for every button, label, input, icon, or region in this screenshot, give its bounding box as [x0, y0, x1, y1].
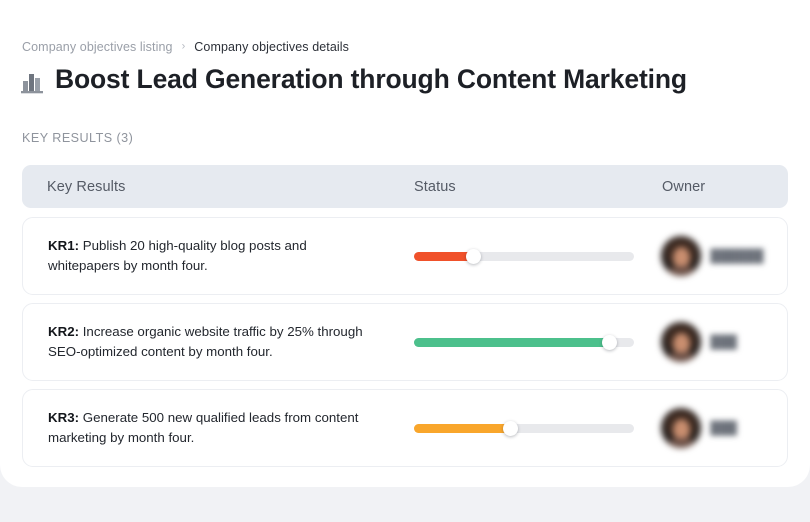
breadcrumb: Company objectives listing › Company obj…: [22, 38, 349, 56]
key-result-text: Publish 20 high-quality blog posts and w…: [48, 238, 307, 274]
key-result-text: Increase organic website traffic by 25% …: [48, 324, 363, 360]
owner-name: ██████: [710, 249, 763, 263]
table-row[interactable]: KR3: Generate 500 new qualified leads fr…: [22, 389, 788, 467]
owner-cell[interactable]: ██████: [661, 236, 787, 276]
column-header-owner: Owner: [662, 179, 705, 195]
table-row[interactable]: KR1: Publish 20 high-quality blog posts …: [22, 217, 788, 295]
owner-cell[interactable]: ███: [661, 322, 787, 362]
column-header-status: Status: [414, 179, 456, 195]
key-result-description: KR3: Generate 500 new qualified leads fr…: [48, 408, 368, 449]
table-header-row: Key Results Status Owner: [22, 165, 788, 208]
key-results-section-label: KEY RESULTS (3): [22, 131, 133, 145]
bar-chart-icon: [21, 70, 43, 94]
progress-slider-knob[interactable]: [602, 335, 617, 350]
owner-cell[interactable]: ███: [661, 408, 787, 448]
key-result-text: Generate 500 new qualified leads from co…: [48, 410, 358, 446]
breadcrumb-chevron-right-icon: ›: [182, 38, 186, 56]
progress-slider[interactable]: [414, 424, 634, 433]
table-row[interactable]: KR2: Increase organic website traffic by…: [22, 303, 788, 381]
progress-slider-fill: [414, 252, 473, 261]
page-title: Boost Lead Generation through Content Ma…: [55, 64, 687, 95]
progress-slider[interactable]: [414, 338, 634, 347]
progress-slider-knob[interactable]: [466, 249, 481, 264]
avatar: [661, 322, 701, 362]
column-header-key-results: Key Results: [47, 179, 125, 195]
content-card: Company objectives listing › Company obj…: [0, 0, 810, 487]
owner-name: ███: [710, 421, 737, 435]
progress-slider-fill: [414, 338, 610, 347]
breadcrumb-link-listing[interactable]: Company objectives listing: [22, 38, 173, 56]
progress-slider[interactable]: [414, 252, 634, 261]
owner-name: ███: [710, 335, 737, 349]
key-result-description: KR2: Increase organic website traffic by…: [48, 322, 368, 363]
avatar: [661, 408, 701, 448]
key-result-code: KR2:: [48, 324, 79, 339]
key-results-table: Key Results Status Owner KR1: Publish 20…: [22, 165, 788, 467]
key-result-code: KR1:: [48, 238, 79, 253]
page-header: Boost Lead Generation through Content Ma…: [21, 64, 687, 95]
breadcrumb-current-details: Company objectives details: [194, 38, 349, 56]
progress-slider-fill: [414, 424, 511, 433]
key-result-description: KR1: Publish 20 high-quality blog posts …: [48, 236, 368, 277]
key-result-code: KR3:: [48, 410, 79, 425]
progress-slider-knob[interactable]: [503, 421, 518, 436]
avatar: [661, 236, 701, 276]
